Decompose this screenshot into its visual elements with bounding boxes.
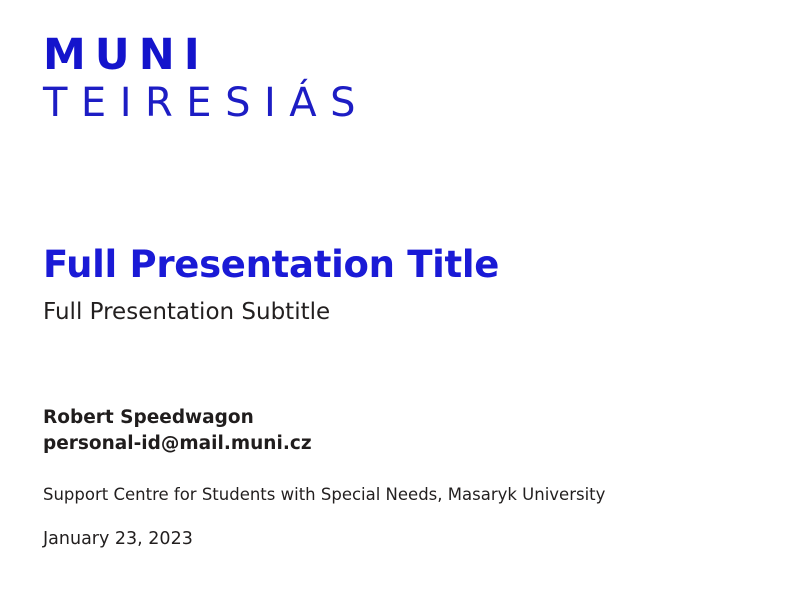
author-email: personal-id@mail.muni.cz: [43, 431, 312, 457]
presentation-date: January 23, 2023: [43, 528, 193, 551]
presentation-title-slide: MUNI TEIRESIÁS Full Presentation Title F…: [0, 0, 794, 596]
teiresias-wordmark: TEIRESIÁS: [43, 78, 369, 129]
page-title: Full Presentation Title: [43, 243, 499, 287]
author-block: Robert Speedwagon personal-id@mail.muni.…: [43, 405, 312, 458]
muni-teiresias-logo: MUNI TEIRESIÁS: [43, 34, 369, 129]
title-block: Full Presentation Title Full Presentatio…: [43, 243, 499, 326]
affiliation-text: Support Centre for Students with Special…: [43, 484, 605, 505]
page-subtitle: Full Presentation Subtitle: [43, 298, 499, 327]
muni-wordmark: MUNI: [43, 34, 369, 78]
author-name: Robert Speedwagon: [43, 405, 312, 431]
